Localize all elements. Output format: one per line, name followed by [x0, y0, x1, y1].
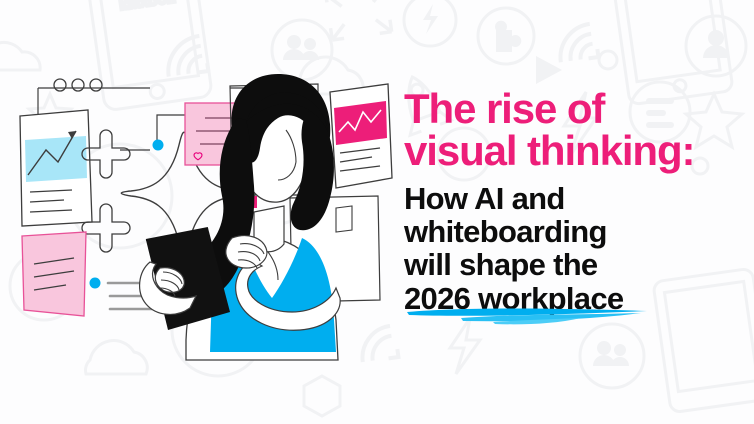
cyan-dot-upper	[153, 140, 164, 151]
chart-card-left	[20, 110, 92, 226]
pink-card-lower-left	[22, 232, 86, 316]
headline: The rise of visual thinking:	[404, 88, 744, 171]
three-dots-row	[54, 79, 102, 91]
cyan-brush-underline	[405, 306, 650, 326]
subheadline-line-2: whiteboarding	[404, 215, 744, 248]
cyan-dot-lower	[90, 278, 101, 289]
subheadline-line-1: How AI and	[404, 182, 744, 215]
subheadline: How AI and whiteboarding will shape the …	[404, 182, 744, 315]
person-illustration	[140, 74, 341, 360]
hero-text-block: The rise of visual thinking: How AI and …	[404, 88, 744, 315]
headline-line-2: visual thinking:	[404, 130, 744, 172]
subheadline-line-3: will shape the	[404, 248, 744, 281]
hero-illustration	[0, 0, 420, 424]
hero-banner: klaxoon	[0, 0, 754, 424]
pink-chart-document	[330, 84, 392, 188]
headline-line-1: The rise of	[404, 88, 744, 130]
